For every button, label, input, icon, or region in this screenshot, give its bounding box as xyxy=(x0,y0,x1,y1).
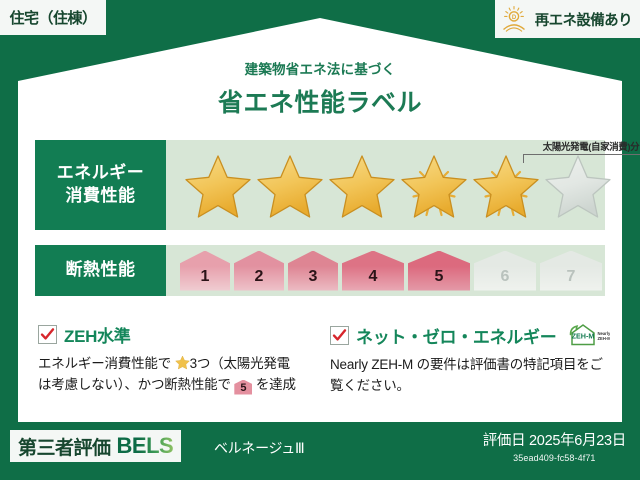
star-filled xyxy=(398,149,470,221)
net-zero-energy-description: Nearly ZEH-M の要件は評価書の特記項目をご覧ください。 xyxy=(330,355,610,396)
insulation-grade-inactive: 6 xyxy=(474,251,536,291)
bels-wordmark: BELS xyxy=(117,433,174,459)
renewable-equipment-label: 再エネ設備あり xyxy=(535,9,632,30)
insulation-grade-value: 5 xyxy=(435,268,444,286)
house-type-tag-label: 住宅（住棟） xyxy=(9,7,96,28)
label-subtitle: 建築物省エネ法に基づく xyxy=(0,58,640,78)
star-rating xyxy=(168,140,605,230)
zeh-m-house-icon: ZEH-M Nearly ZEH-M xyxy=(563,322,610,348)
insulation-grade-active: 1 xyxy=(180,251,230,291)
sun-icon: D xyxy=(501,5,531,33)
insulation-performance-row-label: 断熱性能 xyxy=(35,245,166,296)
net-zero-energy-statement: ネット・ゼロ・エネルギー ZEH-M Nearly ZEH-M Nearly Z… xyxy=(330,322,610,396)
insulation-grade-active: 2 xyxy=(234,251,284,291)
insulation-grade-active: 5 xyxy=(408,251,470,291)
svg-text:ZEH-M: ZEH-M xyxy=(598,336,611,341)
zeh-standard-heading: ZEH水準 xyxy=(38,322,310,347)
insulation-grade-value: 2 xyxy=(255,268,264,286)
net-zero-energy-heading: ネット・ゼロ・エネルギー ZEH-M Nearly ZEH-M xyxy=(330,322,610,348)
energy-performance-row: エネルギー 消費性能 xyxy=(35,140,605,230)
zeh-desc-part-1: エネルギー消費性能で xyxy=(38,356,171,371)
zeh-desc-part-2: 3つ（太陽光発電 xyxy=(190,356,290,371)
evaluation-date: 評価日 2025年6月23日 xyxy=(483,429,626,450)
svg-text:D: D xyxy=(512,15,517,21)
zeh-standard-description: エネルギー消費性能で 3つ（太陽光発電 は考慮しない）、かつ断熱性能で 5 を達… xyxy=(38,354,310,395)
energy-label-line-1: エネルギー xyxy=(57,162,145,185)
label-title: 省エネ性能ラベル xyxy=(0,83,640,119)
zeh-standard-title: ZEH水準 xyxy=(64,322,131,347)
star-filled xyxy=(254,149,326,221)
svg-text:ZEH-M: ZEH-M xyxy=(572,331,595,340)
star-filled xyxy=(326,149,398,221)
building-name: ベルネージュⅢ xyxy=(214,438,304,458)
house-type-tag: 住宅（住棟） xyxy=(0,0,106,35)
renewable-equipment-badge: D 再エネ設備あり xyxy=(495,0,640,38)
label-title-block: 建築物省エネ法に基づく 省エネ性能ラベル xyxy=(0,58,640,119)
insulation-grade-value: 6 xyxy=(501,268,510,286)
zeh-desc-part-3: は考慮しない）、かつ断熱性能で xyxy=(38,377,231,392)
label-footer: 第三者評価 BELS ベルネージュⅢ 評価日 2025年6月23日 35ead4… xyxy=(0,422,640,480)
star-empty xyxy=(542,149,614,221)
insulation-performance-row: 断熱性能 1234567 xyxy=(35,245,605,296)
energy-performance-row-label: エネルギー 消費性能 xyxy=(35,140,166,230)
evaluation-id: 35ead409-fc58-4f71 xyxy=(483,453,626,463)
zeh-standard-checkbox xyxy=(38,325,57,344)
star-filled xyxy=(470,149,542,221)
bels-tag: 第三者評価 BELS xyxy=(10,430,181,462)
insulation-grade-inactive: 7 xyxy=(540,251,602,291)
evaluation-info: 評価日 2025年6月23日 35ead409-fc58-4f71 xyxy=(483,429,626,463)
insulation-grade-scale: 1234567 xyxy=(166,245,605,296)
energy-performance-row-body: 太陽光発電(自家消費)分 xyxy=(166,140,605,230)
third-party-eval-label: 第三者評価 xyxy=(18,433,111,460)
insulation-grade-value: 3 xyxy=(309,268,318,286)
energy-label-line-2: 消費性能 xyxy=(66,185,136,208)
inline-grade-badge: 5 xyxy=(234,380,252,395)
insulation-grade-value: 7 xyxy=(567,268,576,286)
net-zero-energy-checkbox xyxy=(330,326,349,345)
zeh-desc-part-4: を達成 xyxy=(256,377,296,392)
insulation-grade-value: 1 xyxy=(201,268,210,286)
net-zero-energy-title: ネット・ゼロ・エネルギー xyxy=(356,323,556,348)
insulation-grade-value: 4 xyxy=(369,268,378,286)
inline-star-icon xyxy=(175,355,190,370)
energy-performance-label: 住宅（住棟） D 再エネ設備あり 建 xyxy=(0,0,640,480)
insulation-label: 断熱性能 xyxy=(66,259,136,282)
star-filled xyxy=(182,149,254,221)
insulation-performance-row-body: 1234567 xyxy=(166,245,605,296)
insulation-grade-active: 4 xyxy=(342,251,404,291)
zeh-standard-statement: ZEH水準 エネルギー消費性能で 3つ（太陽光発電 は考慮しない）、かつ断熱性能… xyxy=(38,322,310,395)
insulation-grade-active: 3 xyxy=(288,251,338,291)
